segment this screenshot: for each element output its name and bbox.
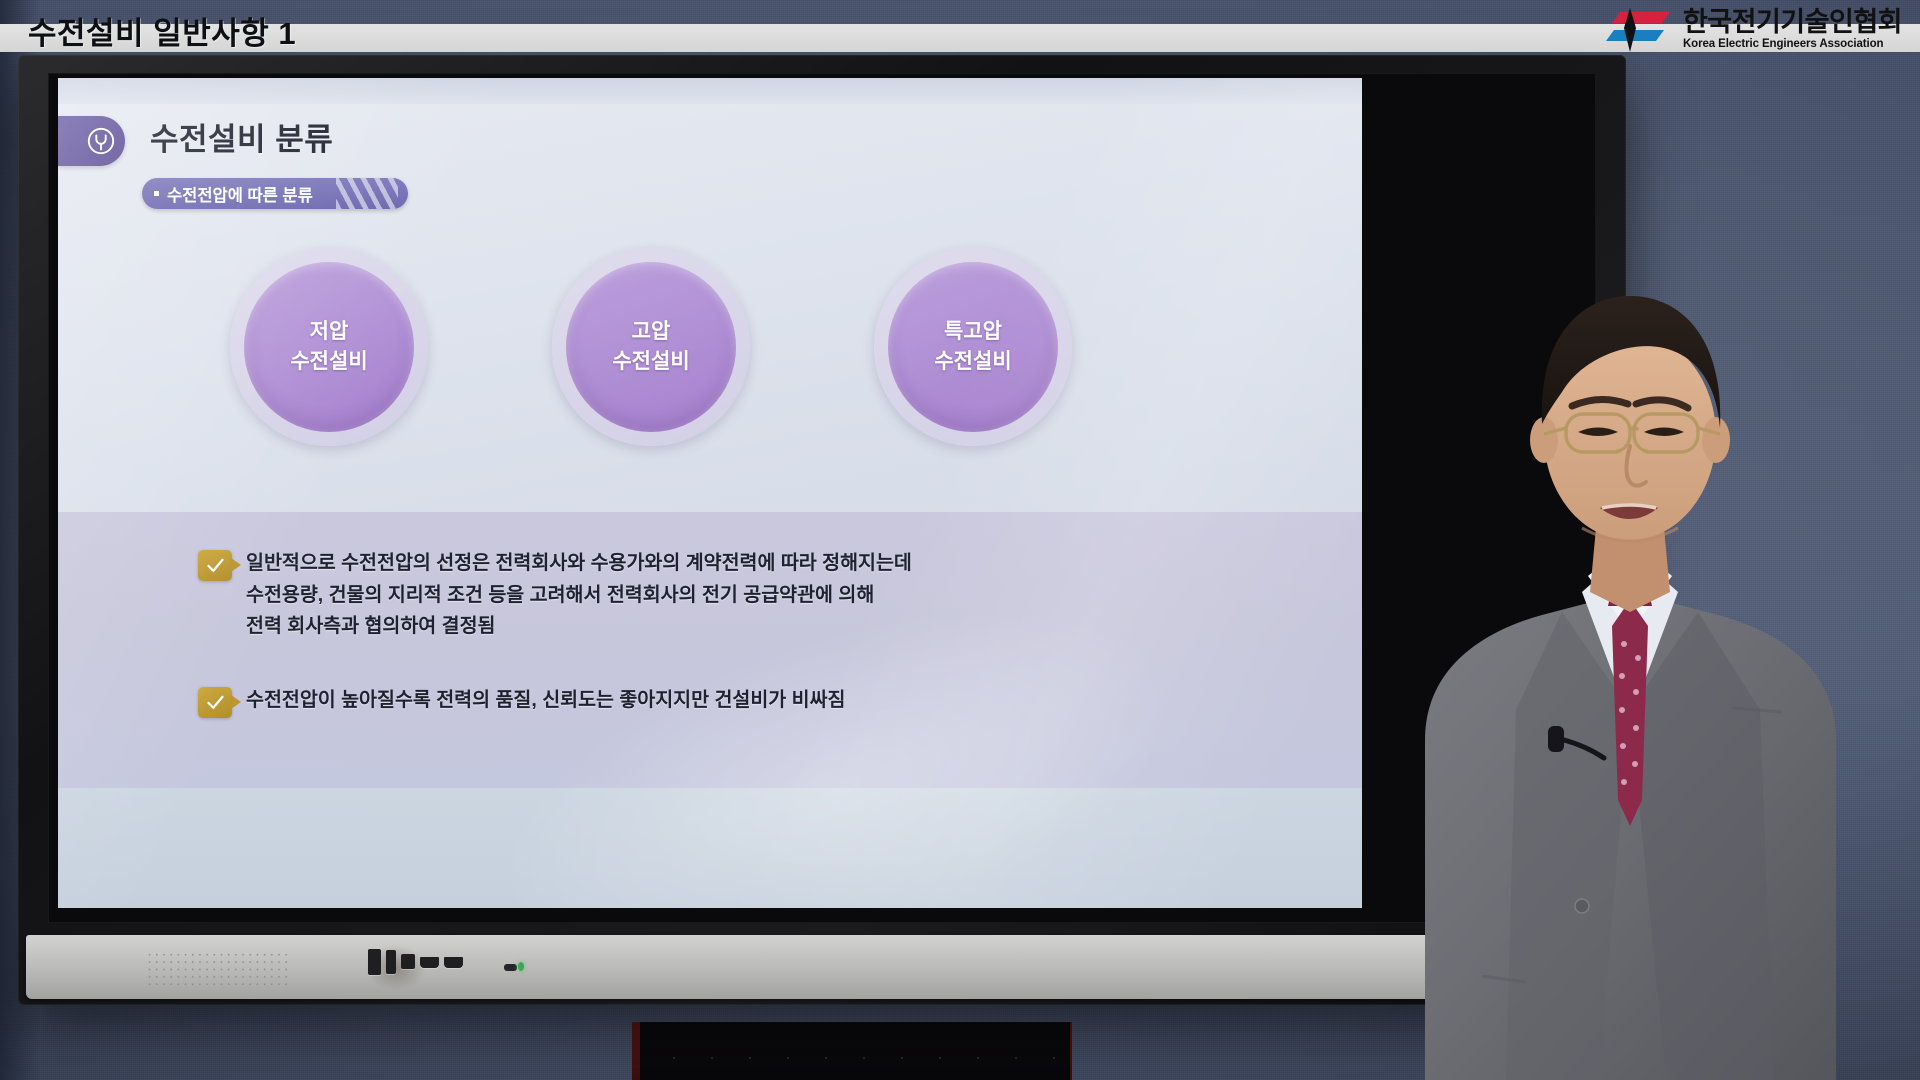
- hdmi-port[interactable]: [420, 957, 439, 968]
- speaker-grille: [146, 951, 290, 985]
- circle-extra-high-voltage[interactable]: 특고압 수전설비: [874, 248, 1072, 446]
- subheading-bullet-icon: [154, 191, 159, 196]
- hdmi-port[interactable]: [444, 957, 463, 968]
- check-icon: [198, 687, 232, 718]
- association-logo: 한국전기기술인협회 Korea Electric Engineers Assoc…: [1600, 8, 1902, 52]
- kea-logo-mark: [1600, 8, 1674, 52]
- logo-english-text: Korea Electric Engineers Association: [1683, 39, 1902, 51]
- presenter-head: [1530, 296, 1730, 541]
- slide-top-strip: [58, 78, 1362, 104]
- bullet-list: 일반적으로 수전전압의 선정은 전력회사와 수용가와의 계약전력에 따라 정해지…: [198, 548, 1278, 760]
- square-port[interactable]: [401, 954, 415, 969]
- circle-low-voltage[interactable]: 저압 수전설비: [230, 248, 428, 446]
- page-title: 수전설비 일반사항 1: [28, 8, 296, 53]
- classification-circles: 저압 수전설비 고압 수전설비 특고압 수전설비: [58, 248, 1362, 478]
- circle-label-line2: 수전설비: [934, 349, 1011, 375]
- slide-title: 수전설비 분류: [150, 114, 333, 159]
- presentation-slide: 수전설비 분류 수전전압에 따른 분류 저압 수전설비 고압 수전설비: [58, 78, 1362, 908]
- circle-label-line2: 수전설비: [612, 349, 689, 375]
- list-item: 일반적으로 수전전압의 선정은 전력회사와 수용가와의 계약전력에 따라 정해지…: [198, 548, 1278, 643]
- usb-port[interactable]: [368, 949, 381, 975]
- video-frame: 수전설비 분류 수전전압에 따른 분류 저압 수전설비 고압 수전설비: [0, 0, 1920, 1080]
- circle-label-line1: 저압: [310, 319, 349, 345]
- slide-subheading-pill: 수전전압에 따른 분류: [142, 178, 408, 209]
- pill-stripes-decoration: [336, 178, 398, 209]
- circle-label-line1: 고압: [632, 319, 671, 345]
- presenter: [1330, 240, 1920, 1080]
- bullet-text: 일반적으로 수전전압의 선정은 전력회사와 수용가와의 계약전력에 따라 정해지…: [246, 548, 912, 643]
- circle-label-line2: 수전설비: [290, 349, 367, 375]
- usb-port[interactable]: [386, 950, 396, 974]
- list-item: 수전전압이 높아질수록 전력의 품질, 신뢰도는 좋아지지만 건설비가 비싸짐: [198, 685, 1278, 718]
- circle-label-line1: 특고압: [944, 319, 1002, 345]
- plug-icon: [58, 116, 125, 166]
- slide-subheading-label: 수전전압에 따른 분류: [167, 182, 313, 206]
- logo-korean-text: 한국전기기술인협회: [1683, 9, 1902, 36]
- bullet-text: 수전전압이 높아질수록 전력의 품질, 신뢰도는 좋아지지만 건설비가 비싸짐: [246, 685, 845, 717]
- cabinet-vent-dots: [655, 1036, 1055, 1072]
- presenter-body: [1425, 566, 1836, 1080]
- power-led-icon: [518, 962, 524, 971]
- circle-high-voltage[interactable]: 고압 수전설비: [552, 248, 750, 446]
- port-cluster[interactable]: [368, 949, 488, 989]
- slide-header: 수전설비 분류: [58, 116, 1362, 172]
- check-icon: [198, 550, 232, 581]
- power-led-housing: [504, 964, 517, 971]
